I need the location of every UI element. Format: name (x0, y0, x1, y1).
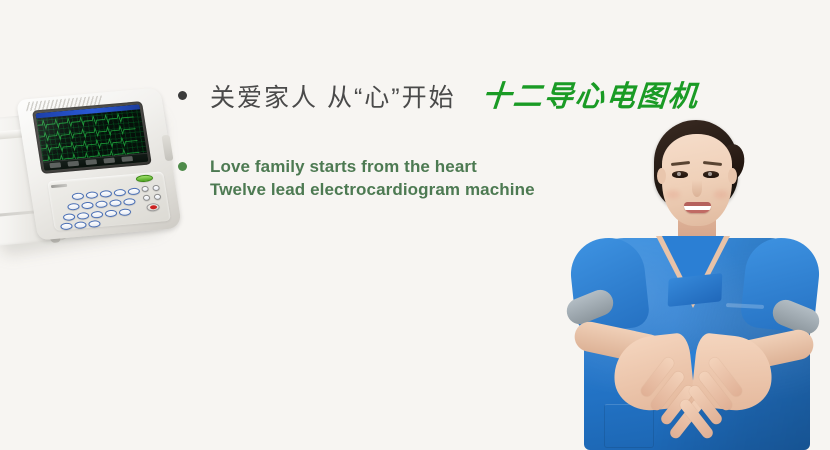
nav-up-button[interactable] (141, 186, 149, 193)
softkey-5[interactable] (121, 156, 133, 162)
keypad-key[interactable] (104, 209, 117, 217)
screen-bezel (32, 101, 152, 174)
stop-button[interactable] (146, 203, 160, 212)
ecg-screen (35, 104, 148, 170)
softkey-1[interactable] (49, 162, 61, 168)
keypad-key[interactable] (127, 187, 140, 195)
keypad-key[interactable] (95, 200, 108, 208)
keypad-key[interactable] (91, 211, 104, 219)
keypad-key[interactable] (67, 203, 80, 211)
keypad-key[interactable] (81, 202, 94, 210)
keypad-key[interactable] (123, 198, 136, 206)
device-body (16, 88, 182, 241)
softkey-3[interactable] (85, 159, 97, 165)
headline-group: 关爱家人 从“心”开始 十二导心电图机 (210, 80, 699, 115)
keypad-key[interactable] (118, 208, 131, 216)
subheadline-line-1: Love family starts from the heart (210, 155, 535, 178)
nurse-smile (684, 202, 711, 213)
device-side-handle (161, 135, 173, 161)
nav-right-button[interactable] (152, 185, 160, 192)
headline-row: 关爱家人 从“心”开始 十二导心电图机 (178, 80, 708, 115)
bullet-dot-icon (178, 162, 187, 171)
scrub-side-pocket (604, 404, 654, 448)
nurse-photo (558, 118, 830, 450)
nurse-eye-right (703, 171, 719, 178)
nurse-eye-left (672, 171, 688, 178)
keypad-key[interactable] (74, 221, 87, 229)
subheadline-group: Love family starts from the heart Twelve… (210, 155, 535, 201)
headline-chinese: 关爱家人 从“心”开始 (210, 81, 456, 115)
promo-banner: 关爱家人 从“心”开始 十二导心电图机 Love family starts f… (0, 0, 830, 450)
nurse-ear-right (728, 168, 737, 184)
nurse-nose (692, 180, 702, 197)
keypad-key[interactable] (77, 212, 90, 220)
nurse-cheek-left (666, 190, 680, 199)
nav-left-button[interactable] (143, 195, 151, 202)
nurse-ear-left (657, 168, 666, 184)
keypad-key[interactable] (85, 191, 98, 199)
softkey-2[interactable] (67, 161, 79, 167)
subheadline-line-2: Twelve lead electrocardiogram machine (210, 178, 535, 201)
softkey-4[interactable] (103, 158, 115, 164)
keypad-key[interactable] (99, 190, 112, 198)
nurse-cheek-right (714, 190, 728, 199)
nav-down-button[interactable] (154, 194, 162, 201)
device-keypad (47, 171, 171, 231)
product-name-chinese: 十二导心电图机 (480, 80, 700, 114)
keypad-key[interactable] (113, 189, 126, 197)
keypad-key[interactable] (109, 199, 122, 207)
bullet-dot-icon (178, 91, 187, 100)
scrub-vneck-fold (668, 273, 723, 307)
start-button[interactable] (135, 174, 153, 182)
keypad-key[interactable] (60, 222, 73, 230)
keypad-key[interactable] (71, 192, 84, 200)
keypad-key[interactable] (63, 213, 76, 221)
ecg-device (0, 81, 191, 260)
keypad-key[interactable] (88, 220, 101, 228)
device-brand-label (51, 184, 67, 188)
